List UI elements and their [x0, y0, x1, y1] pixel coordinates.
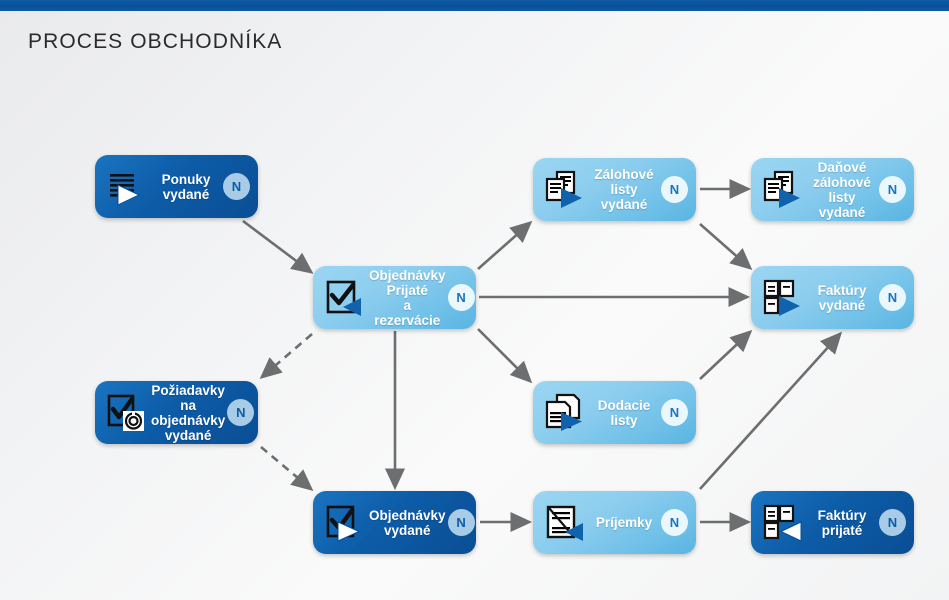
- node-label: Príjemky: [587, 515, 661, 530]
- edge-zalohove-to-faktury-vydane: [700, 224, 750, 268]
- status-badge: N: [661, 399, 688, 426]
- status-badge: N: [223, 173, 250, 200]
- status-badge: N: [661, 509, 688, 536]
- delivery-note-play-icon: [543, 391, 587, 435]
- node-label: Ponuky vydané: [149, 172, 223, 202]
- node-label: Objednávky Prijaté a rezervácie: [367, 268, 448, 328]
- node-ponuky-vydane[interactable]: Ponuky vydané N: [95, 155, 258, 218]
- node-poziadavky-na-objednavky-vydane[interactable]: Požiadavky na objednávky vydané N: [95, 381, 258, 444]
- node-label: Faktúry vydané: [805, 283, 879, 313]
- status-badge: N: [227, 399, 254, 426]
- edge-prijemky-to-faktury-vydane: [700, 334, 840, 489]
- edge-dodacie-to-faktury-vydane: [700, 332, 750, 379]
- edge-poziadavky-to-objednavky-vydane-dashed: [261, 447, 311, 489]
- stacked-documents-play-icon: [761, 168, 805, 212]
- checkbox-play-icon: [323, 501, 367, 545]
- node-objednavky-prijate-a-rezervacie[interactable]: Objednávky Prijaté a rezervácie N: [313, 266, 476, 329]
- node-label: Dodacie listy: [587, 398, 661, 428]
- document-lines-play-icon: [105, 165, 149, 209]
- status-badge: N: [448, 509, 475, 536]
- edge-objednavky-prijate-to-zalohove: [478, 223, 530, 269]
- node-label: Faktúry prijaté: [805, 508, 879, 538]
- checkbox-triangle-left-icon: [323, 276, 367, 320]
- node-danove-zalohove-listy-vydane[interactable]: Daňové zálohové listy vydané N: [751, 158, 914, 221]
- node-faktury-prijate[interactable]: Faktúry prijaté N: [751, 491, 914, 554]
- edge-objednavky-prijate-to-dodacie: [478, 329, 530, 381]
- invoice-triangle-left-icon: [761, 501, 805, 545]
- node-label: Objednávky vydané: [367, 508, 448, 538]
- receipt-triangle-left-icon: [543, 501, 587, 545]
- slide-canvas: PROCES OBCHODNÍKA: [0, 0, 949, 600]
- node-label: Zálohové listy vydané: [587, 167, 661, 212]
- node-zalohove-listy-vydane[interactable]: Zálohové listy vydané N: [533, 158, 696, 221]
- status-badge: N: [879, 509, 906, 536]
- node-label: Požiadavky na objednávky vydané: [149, 383, 227, 443]
- node-faktury-vydane[interactable]: Faktúry vydané N: [751, 266, 914, 329]
- node-label: Daňové zálohové listy vydané: [805, 160, 879, 220]
- node-objednavky-vydane[interactable]: Objednávky vydané N: [313, 491, 476, 554]
- status-badge: N: [661, 176, 688, 203]
- checkbox-circle-icon: [105, 391, 149, 435]
- status-badge: N: [879, 176, 906, 203]
- edge-ponuky-to-objednavky-prijate: [243, 221, 311, 272]
- edge-objednavky-prijate-to-poziadavky-dashed: [262, 334, 312, 377]
- node-dodacie-listy[interactable]: Dodacie listy N: [533, 381, 696, 444]
- stacked-documents-play-icon: [543, 168, 587, 212]
- invoice-play-icon: [761, 276, 805, 320]
- status-badge: N: [448, 284, 475, 311]
- status-badge: N: [879, 284, 906, 311]
- node-prijemky[interactable]: Príjemky N: [533, 491, 696, 554]
